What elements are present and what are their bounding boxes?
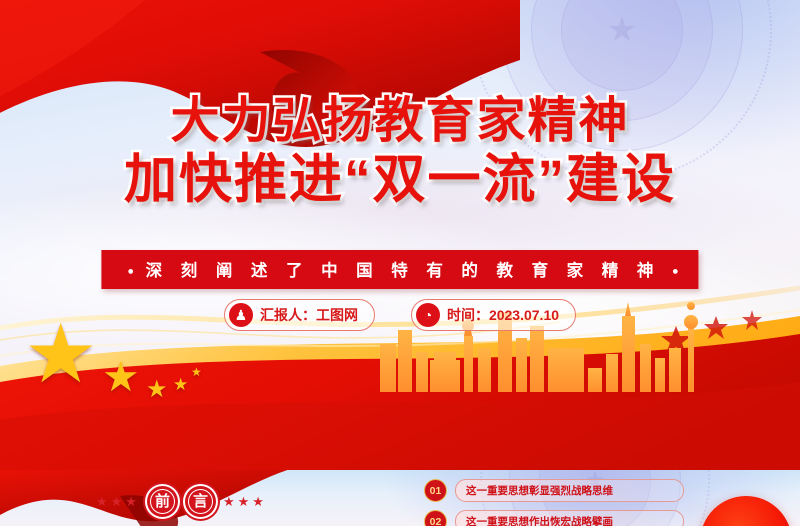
title-block: 大力弘扬教育家精神 加快推进“双一流”建设 — [0, 96, 800, 208]
gold-star-4: ★ — [173, 376, 188, 393]
item-text: 这一重要思想彰显强烈战略思维 — [455, 479, 684, 502]
subtitle-bar: ● 深 刻 阐 述 了 中 国 特 有 的 教 育 家 精 神 ● — [101, 250, 698, 289]
seal-yan-label: 言 — [193, 494, 208, 509]
clock-icon: ◔ — [416, 303, 440, 327]
seal-qian: 前 — [147, 486, 178, 517]
meta-row: ♟ 汇报人：工图网 ◔ 时间：2023.07.10 — [0, 299, 800, 331]
seal-qian-label: 前 — [155, 494, 170, 509]
gold-star-5: ★ — [191, 366, 202, 378]
ppt-template-preview: ★ ★ ★ ★ ★ 大力弘扬教育家精神 加快推进“双一流”建设 ● 深 刻 阐 … — [0, 0, 800, 526]
slide-cover[interactable]: ★ ★ ★ ★ ★ 大力弘扬教育家精神 加快推进“双一流”建设 ● 深 刻 阐 … — [0, 0, 800, 470]
outline-list: 01 这一重要思想彰显强烈战略思维 02 这一重要思想作出恢宏战略擘画 — [424, 479, 684, 526]
presenter-label: 汇报人：工图网 — [260, 305, 358, 325]
gold-star-cluster: ★ ★ ★ ★ ★ — [18, 320, 238, 410]
section-stars-left: ★★★ — [96, 495, 140, 508]
section-stars-right: ★★★ — [223, 495, 267, 508]
presenter-badge[interactable]: ♟ 汇报人：工图网 — [224, 299, 375, 331]
subtitle-dot-right: ● — [672, 266, 679, 278]
item-number: 02 — [424, 510, 447, 526]
item-text: 这一重要思想作出恢宏战略擘画 — [455, 510, 684, 526]
seal-yan: 言 — [185, 486, 216, 517]
person-icon: ♟ — [229, 303, 253, 327]
date-label: 时间：2023.07.10 — [447, 305, 559, 325]
list-item[interactable]: 01 这一重要思想彰显强烈战略思维 — [424, 479, 684, 502]
date-badge[interactable]: ◔ 时间：2023.07.10 — [411, 299, 576, 331]
subtitle-text: 深 刻 阐 述 了 中 国 特 有 的 教 育 家 精 神 — [146, 262, 661, 280]
gold-star-2: ★ — [102, 356, 140, 398]
title-line-1: 大力弘扬教育家精神 — [0, 96, 800, 148]
item-number: 01 — [424, 479, 447, 502]
subtitle-dot-left: ● — [127, 266, 134, 278]
gold-star-3: ★ — [146, 378, 168, 402]
preface-heading: ★★★ 前 言 ★★★ — [96, 486, 267, 517]
list-item[interactable]: 02 这一重要思想作出恢宏战略擘画 — [424, 510, 684, 526]
title-line-2: 加快推进“双一流”建设 — [0, 152, 800, 208]
red-circle-decor — [700, 496, 792, 526]
